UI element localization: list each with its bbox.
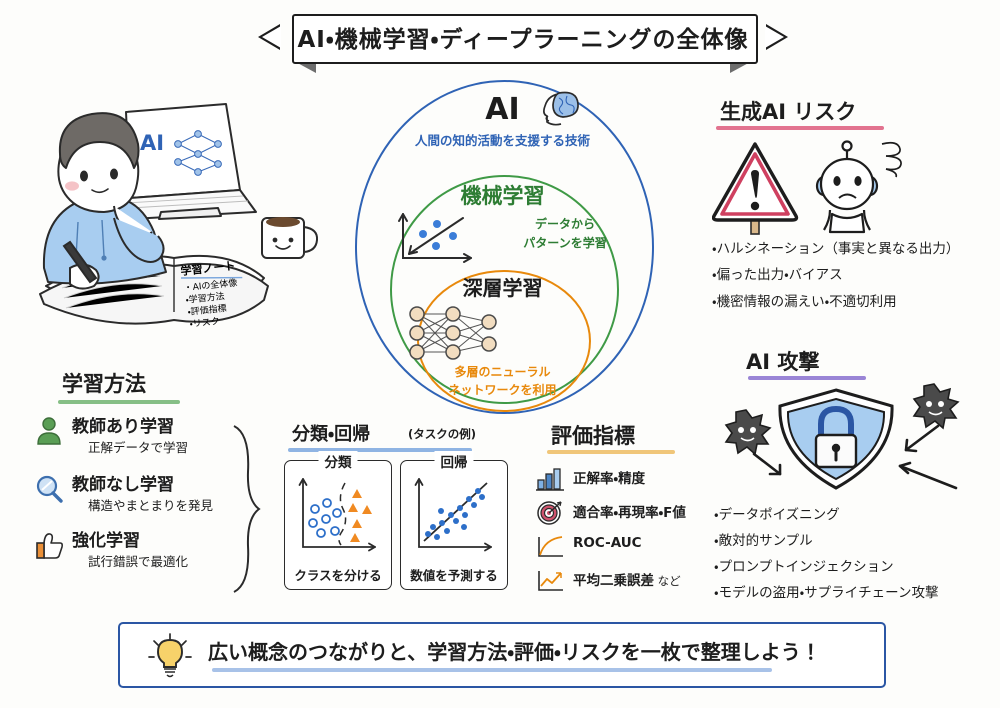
footer-text: 広い概念のつながりと、学習方法・評価・リスクを一枚で整理しよう！ bbox=[208, 636, 821, 665]
metric-label: 平均二乗誤差 など bbox=[573, 569, 681, 589]
venn-sub-ai: 人間の知的活動を支援する技術 bbox=[355, 130, 650, 149]
task-box-regression: 回帰 数値を予測する bbox=[400, 460, 508, 590]
list-item: ・データポイズニング bbox=[714, 502, 939, 528]
venn-sub-ml: データから パターンを学習 bbox=[495, 215, 635, 252]
metric-label: 適合率・再現率・F値 bbox=[573, 501, 686, 521]
venn-sub-dl-line1: 多層のニューラル bbox=[410, 363, 595, 381]
confusion-swirl-icon bbox=[882, 143, 901, 177]
ai-attack-bullets: ・データポイズニング ・敵対的サンプル ・プロンプトインジェクション ・モデルの… bbox=[714, 502, 939, 606]
metric-item-mse: 平均二乗誤差 など bbox=[535, 566, 725, 598]
banner-tail-right-inner bbox=[765, 26, 784, 48]
virus-icon bbox=[726, 410, 770, 454]
scatter-plot-icon bbox=[393, 208, 485, 274]
ai-attack-heading: AI 攻撃 bbox=[746, 346, 819, 376]
gen-ai-risk-section: 生成AI リスク bbox=[712, 96, 994, 311]
metric-label-main: 平均二乗誤差 bbox=[573, 573, 654, 589]
metrics-section: 評価指標 正解率・精度 適合率・再現率・F値 bbox=[535, 420, 725, 600]
brace-connector bbox=[228, 424, 264, 598]
venn-label-dl: 深層学習 bbox=[355, 272, 650, 301]
learning-method-desc: 正解データで学習 bbox=[88, 437, 188, 456]
tasks-section: 分類・回帰 (タスクの例) 分類 bbox=[280, 420, 520, 600]
task-box-caption: 数値を予測する bbox=[401, 565, 507, 584]
list-item: ・敵対的サンプル bbox=[714, 528, 939, 554]
metrics-underline bbox=[547, 450, 675, 454]
coffee-mug-icon bbox=[262, 217, 317, 258]
learning-method-desc: 構造やまとまりを発見 bbox=[88, 495, 213, 514]
shield-lock-icon bbox=[780, 390, 892, 488]
venn-label-ml: 機械学習 bbox=[355, 180, 650, 210]
learning-method-title: 強化学習 bbox=[72, 526, 140, 551]
list-item: ・ハルシネーション（事実と異なる出力） bbox=[712, 236, 959, 262]
metric-item-accuracy: 正解率・精度 bbox=[535, 464, 725, 496]
svg-text:AI: AI bbox=[140, 131, 164, 155]
venn-sub-ml-line1: データから bbox=[495, 215, 635, 234]
classification-scatter-icon bbox=[291, 475, 385, 567]
learning-methods-underline bbox=[58, 400, 180, 404]
trend-line-icon bbox=[535, 568, 565, 594]
tasks-heading-sub: (タスクの例) bbox=[408, 426, 476, 442]
gen-ai-risk-art bbox=[712, 138, 932, 240]
neural-network-icon bbox=[403, 302, 507, 368]
brain-head-icon bbox=[537, 90, 581, 132]
metric-label: ROC-AUC bbox=[573, 535, 642, 551]
learning-method-desc: 試行錯誤で最適化 bbox=[88, 551, 188, 570]
roc-curve-icon bbox=[535, 534, 565, 560]
list-item: ・偏った出力・バイアス bbox=[712, 262, 959, 288]
gen-ai-risk-underline bbox=[716, 126, 884, 130]
venn-sub-dl: 多層のニューラル ネットワークを利用 bbox=[410, 363, 595, 399]
thumbs-up-icon bbox=[34, 530, 64, 560]
sad-robot-icon bbox=[817, 142, 877, 233]
target-icon bbox=[535, 500, 565, 526]
metrics-heading: 評価指標 bbox=[551, 420, 635, 450]
banner-tail-left-inner bbox=[262, 26, 281, 48]
venn-sub-dl-line2: ネットワークを利用 bbox=[410, 381, 595, 399]
lightbulb-icon bbox=[146, 632, 194, 682]
task-box-classification: 分類 クラスを分ける bbox=[284, 460, 392, 590]
bar-chart-icon bbox=[535, 466, 565, 492]
learning-methods-heading: 学習方法 bbox=[62, 368, 146, 398]
metric-label: 正解率・精度 bbox=[573, 467, 645, 487]
regression-scatter-icon bbox=[407, 475, 501, 567]
list-item: ・プロンプトインジェクション bbox=[714, 554, 939, 580]
metric-label-suffix: など bbox=[654, 574, 681, 588]
task-box-label: 回帰 bbox=[435, 451, 474, 471]
footer-callout: 広い概念のつながりと、学習方法・評価・リスクを一枚で整理しよう！ bbox=[118, 622, 886, 688]
tasks-heading: 分類・回帰 bbox=[292, 420, 370, 446]
ai-attack-section: AI 攻撃 bbox=[700, 346, 995, 601]
list-item: ・機密情報の漏えい・不適切利用 bbox=[712, 289, 959, 315]
venn-diagram: AI 人間の知的活動を支援する技術 機械学習 bbox=[355, 80, 650, 410]
gen-ai-risk-bullets: ・ハルシネーション（事実と異なる出力） ・偏った出力・バイアス ・機密情報の漏え… bbox=[712, 236, 959, 315]
person-icon bbox=[34, 416, 64, 446]
ai-attack-art bbox=[724, 382, 964, 506]
metric-item-roc-auc: ROC-AUC bbox=[535, 532, 725, 564]
virus-icon bbox=[914, 384, 958, 428]
footer-underline bbox=[212, 668, 772, 672]
learning-method-title: 教師なし学習 bbox=[72, 470, 174, 495]
warning-triangle-icon bbox=[714, 144, 797, 234]
venn-sub-ml-line2: パターンを学習 bbox=[495, 234, 635, 253]
venn-label-ai: AI bbox=[355, 92, 650, 127]
task-box-caption: クラスを分ける bbox=[285, 565, 391, 584]
learning-method-title: 教師あり学習 bbox=[72, 412, 174, 437]
magnifier-icon bbox=[34, 474, 64, 504]
gen-ai-risk-heading: 生成AI リスク bbox=[720, 96, 856, 126]
student-illustration: AI 学習ノート ・AIの全体像 ・学習方法 ・評価 bbox=[18, 72, 348, 372]
task-box-label: 分類 bbox=[319, 451, 358, 471]
ai-attack-underline bbox=[748, 376, 866, 380]
metric-item-precision-recall-f1: 適合率・再現率・F値 bbox=[535, 498, 725, 530]
title-banner: AI・機械学習・ディープラーニングの全体像 bbox=[258, 10, 788, 72]
list-item: ・モデルの盗用・サプライチェーン攻撃 bbox=[714, 580, 939, 606]
page-title: AI・機械学習・ディープラーニングの全体像 bbox=[292, 14, 754, 60]
